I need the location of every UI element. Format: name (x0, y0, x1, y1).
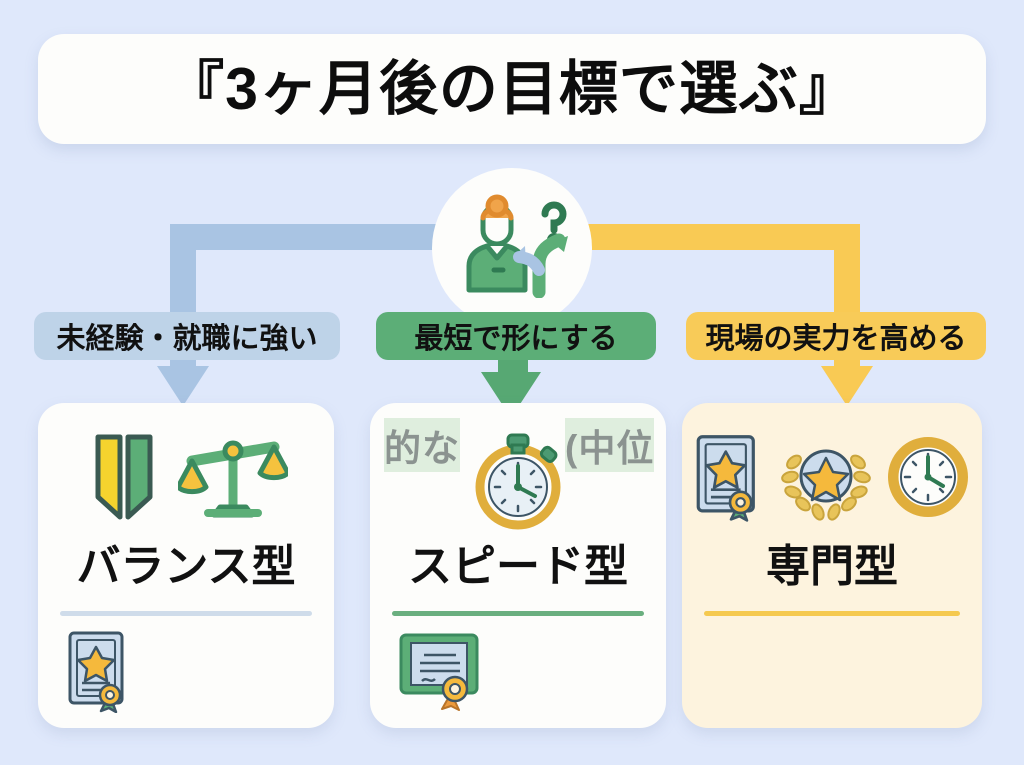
card-balance[interactable]: バランス型 (38, 403, 334, 728)
beginner-leaf-mark-icon (84, 427, 164, 532)
clock-icon (886, 435, 970, 524)
stopwatch-icon (462, 421, 574, 538)
badge-speed[interactable]: 最短で形にする (376, 312, 656, 360)
certificate-star-portrait-icon (694, 432, 766, 527)
connector-balance-horizontal (170, 224, 470, 250)
card-balance-divider (60, 611, 312, 616)
certificate-star-portrait-icon (66, 629, 134, 718)
card-specialist-icons (682, 421, 982, 537)
infographic-stage: 『3ヶ月後の目標で選ぶ』 (0, 0, 1024, 765)
badge-specialist[interactable]: 現場の実力を高める (686, 312, 986, 360)
card-specialist-title: 専門型 (682, 545, 982, 589)
connector-specialist-arrowhead (821, 366, 873, 406)
card-speed-title: スピード型 (370, 545, 666, 589)
laurel-star-icon (780, 432, 872, 527)
card-balance-icons (38, 421, 334, 537)
artifact-text-left: 的な (384, 418, 460, 472)
badge-balance[interactable]: 未経験・就職に強い (34, 312, 340, 360)
hub-circle (432, 168, 592, 328)
balance-scales-icon (178, 427, 288, 532)
diploma-rosette-landscape-icon (398, 629, 490, 716)
card-specialist[interactable]: 専門型 (682, 403, 982, 728)
card-speed-divider (392, 611, 644, 616)
title-card: 『3ヶ月後の目標で選ぶ』 (38, 34, 986, 144)
person-choosing-path-icon (453, 194, 571, 303)
artifact-text-right: (中位 (565, 418, 654, 472)
page-title: 『3ヶ月後の目標で選ぶ』 (165, 60, 859, 119)
card-specialist-divider (704, 611, 960, 616)
connector-balance-arrowhead (157, 366, 209, 406)
card-balance-title: バランス型 (38, 545, 334, 589)
connector-specialist-horizontal (560, 224, 860, 250)
